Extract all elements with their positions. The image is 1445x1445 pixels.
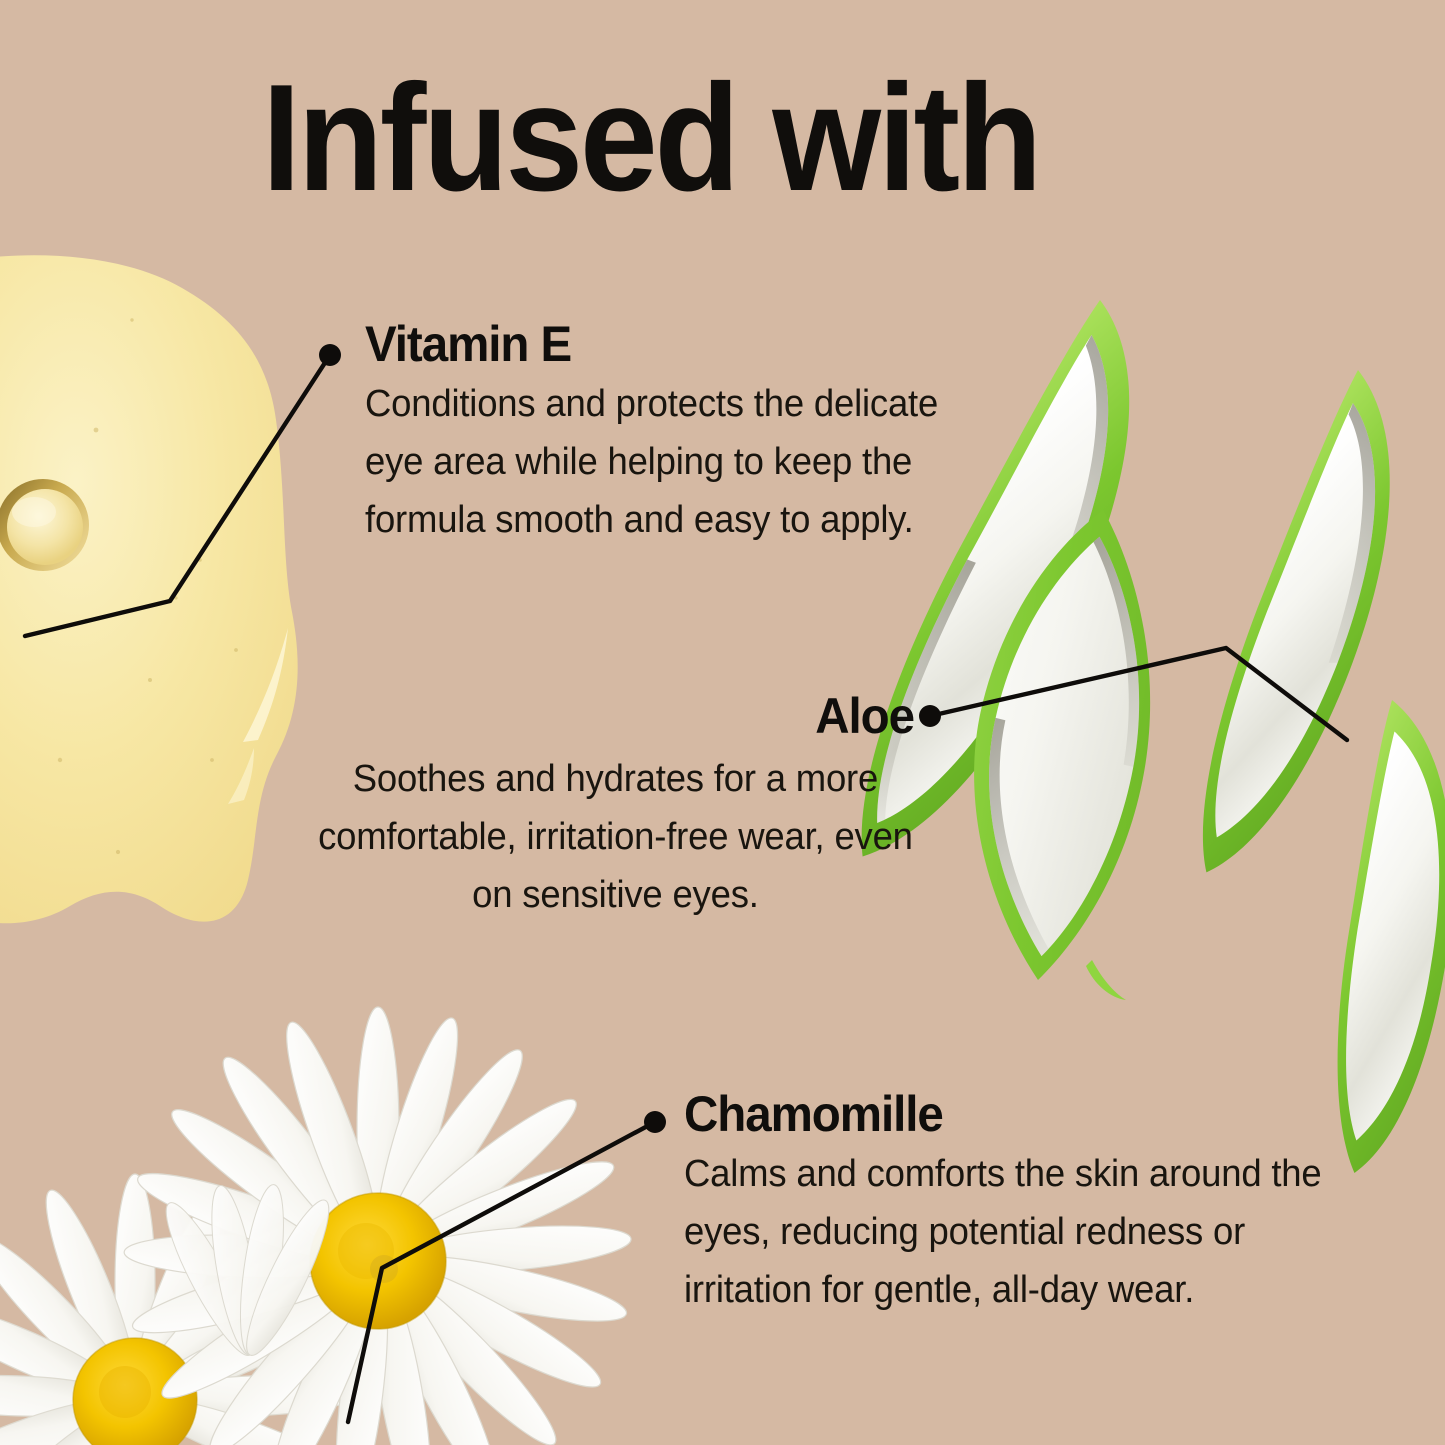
marker-dot-chamomille [644, 1111, 666, 1133]
marker-dot-vitamin-e [319, 344, 341, 366]
ingredient-name-aloe: Aloe [323, 688, 914, 744]
ingredient-name-chamomille: Chamomille [684, 1086, 1330, 1142]
leader-line-chamomille [348, 1122, 655, 1422]
ingredient-description-aloe: Soothes and hydrates for a more comforta… [317, 750, 914, 924]
leader-line-vitamin-e [25, 355, 330, 636]
marker-dot-aloe [919, 705, 941, 727]
leader-line-aloe [930, 648, 1347, 740]
ingredient-description-vitamin-e: Conditions and protects the delicate eye… [365, 375, 999, 549]
ingredient-name-vitamin-e: Vitamin E [365, 316, 992, 372]
yellow-oil-serum-swatch-image [0, 255, 298, 923]
callout-chamomille: Chamomille Calms and comforts the skin a… [684, 1086, 1364, 1319]
ingredient-description-chamomille: Calms and comforts the skin around the e… [684, 1145, 1337, 1319]
infused-with-ingredients-graphic: Infused with Vitamin E Conditions and pr… [0, 0, 1445, 1445]
callout-aloe: Aloe Soothes and hydrates for a more com… [292, 688, 914, 924]
page-title: Infused with [262, 62, 1039, 214]
callout-vitamin-e: Vitamin E Conditions and protects the de… [365, 316, 1025, 549]
chamomile-daisy-flowers-image [0, 1007, 633, 1445]
